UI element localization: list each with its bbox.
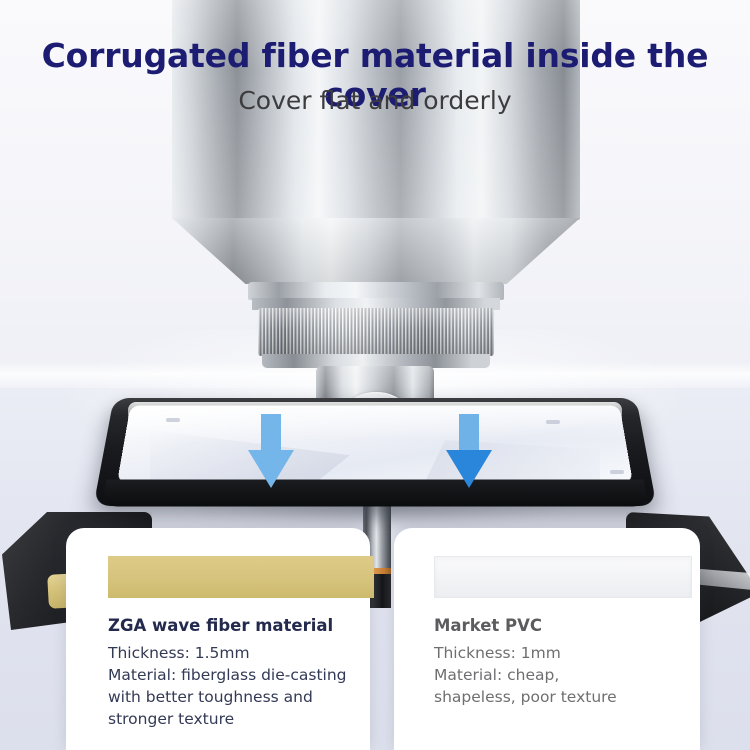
card-spec-line: Thickness: 1mm: [434, 642, 696, 664]
card-spec-line: with better toughness and: [108, 686, 380, 708]
card-spec-line: stronger texture: [108, 708, 380, 730]
case-camera-notch-corner: [610, 470, 624, 474]
zga-material-card: ZGA wave fiber material Thickness: 1.5mm…: [66, 528, 370, 750]
case-front-lip: [101, 480, 648, 507]
market-pvc-card: Market PVC Thickness: 1mm Material: chea…: [394, 528, 700, 750]
card-spec-line: Thickness: 1.5mm: [108, 642, 380, 664]
card-title: ZGA wave fiber material: [108, 616, 380, 637]
case-camera-notch-right: [546, 420, 560, 424]
card-spec-line: Material: fiberglass die-casting: [108, 664, 380, 686]
page-subtitle: Cover flat and orderly: [0, 86, 750, 115]
arrow-tip: [248, 450, 294, 488]
case-camera-notch-left: [166, 418, 180, 422]
card-body: ZGA wave fiber material Thickness: 1.5mm…: [108, 616, 380, 730]
card-spec-line: Material: cheap,: [434, 664, 696, 686]
card-body: Market PVC Thickness: 1mm Material: chea…: [434, 616, 696, 708]
arrow-tip: [446, 450, 492, 488]
material-swatch-pvc: [434, 556, 692, 598]
press-arrow-left-icon: [248, 414, 294, 488]
press-arrow-right-icon: [446, 414, 492, 488]
arrow-stem: [459, 414, 479, 454]
card-spec-line: shapeless, poor texture: [434, 686, 696, 708]
arrow-stem: [261, 414, 281, 454]
product-feature-banner: 80KG Corrugated fiber material inside t: [0, 0, 750, 750]
card-title: Market PVC: [434, 616, 696, 637]
material-swatch-zga: [108, 556, 374, 598]
